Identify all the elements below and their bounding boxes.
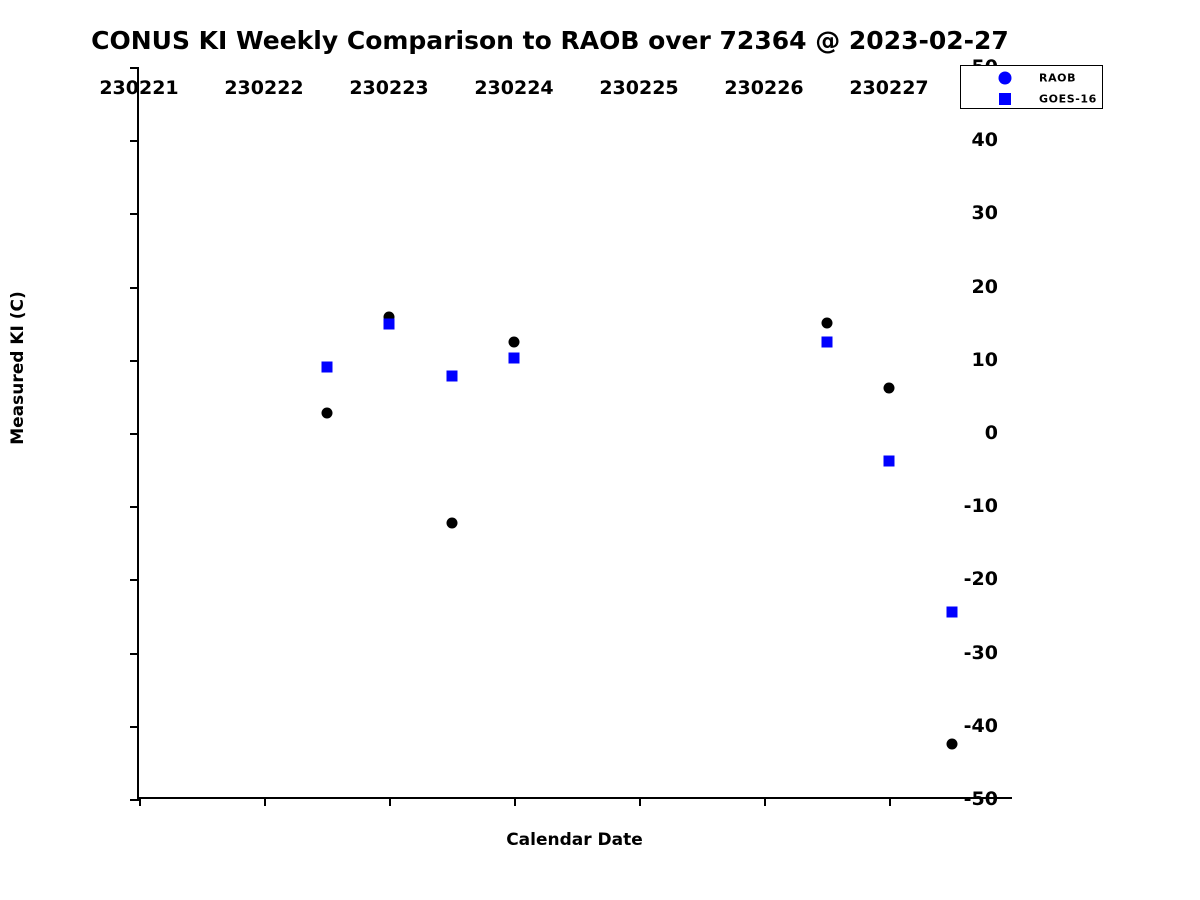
- x-tick-mark: [514, 797, 516, 806]
- legend-item-goes-16[interactable]: GOES-16: [961, 88, 1102, 110]
- legend-circle-icon: [999, 72, 1012, 85]
- x-tick-label: 230222: [224, 77, 303, 99]
- y-tick-mark: [130, 360, 139, 362]
- data-point-raob: [884, 383, 895, 394]
- y-tick-mark: [130, 433, 139, 435]
- y-tick-label: -30: [964, 642, 998, 664]
- data-point-raob: [321, 408, 332, 419]
- data-point-goes-16: [321, 362, 332, 373]
- y-tick-mark: [130, 287, 139, 289]
- x-tick-mark: [764, 797, 766, 806]
- y-tick-mark: [130, 799, 139, 801]
- y-tick-mark: [130, 579, 139, 581]
- y-tick-label: -40: [964, 715, 998, 737]
- data-point-goes-16: [946, 607, 957, 618]
- data-point-raob: [509, 336, 520, 347]
- y-tick-mark: [130, 213, 139, 215]
- data-point-goes-16: [884, 455, 895, 466]
- chart-title: CONUS KI Weekly Comparison to RAOB over …: [0, 26, 1100, 55]
- legend-label: GOES-16: [1039, 93, 1097, 106]
- y-tick-label: -20: [964, 568, 998, 590]
- y-tick-label: 20: [972, 276, 998, 298]
- data-point-goes-16: [446, 370, 457, 381]
- y-tick-mark: [130, 506, 139, 508]
- x-tick-label: 230227: [849, 77, 928, 99]
- y-tick-mark: [130, 653, 139, 655]
- chart-page: CONUS KI Weekly Comparison to RAOB over …: [0, 0, 1200, 900]
- data-point-raob: [821, 318, 832, 329]
- y-tick-mark: [130, 67, 139, 69]
- chart-legend: RAOBGOES-16: [960, 65, 1103, 109]
- y-tick-mark: [130, 140, 139, 142]
- x-tick-label: 230224: [474, 77, 553, 99]
- y-tick-label: -50: [964, 788, 998, 810]
- y-axis-label: Measured KI (C): [8, 198, 28, 538]
- x-tick-mark: [389, 797, 391, 806]
- y-tick-label: 10: [972, 349, 998, 371]
- legend-square-icon: [999, 93, 1011, 105]
- y-tick-label: 40: [972, 129, 998, 151]
- x-tick-mark: [639, 797, 641, 806]
- y-tick-mark: [130, 726, 139, 728]
- data-point-raob: [946, 739, 957, 750]
- x-tick-mark: [889, 797, 891, 806]
- legend-label: RAOB: [1039, 72, 1076, 85]
- data-point-goes-16: [509, 353, 520, 364]
- legend-item-raob[interactable]: RAOB: [961, 67, 1102, 89]
- x-tick-label: 230226: [724, 77, 803, 99]
- x-tick-mark: [139, 797, 141, 806]
- x-tick-label: 230221: [99, 77, 178, 99]
- data-point-goes-16: [821, 337, 832, 348]
- y-tick-label: -10: [964, 495, 998, 517]
- x-axis-label: Calendar Date: [137, 830, 1012, 850]
- data-point-raob: [446, 518, 457, 529]
- y-tick-label: 30: [972, 202, 998, 224]
- data-point-goes-16: [384, 318, 395, 329]
- plot-area: 50403020100-10-20-30-40-50 2302212302222…: [137, 67, 1012, 799]
- x-tick-mark: [264, 797, 266, 806]
- y-tick-label: 0: [985, 422, 998, 444]
- x-tick-label: 230225: [599, 77, 678, 99]
- x-tick-label: 230223: [349, 77, 428, 99]
